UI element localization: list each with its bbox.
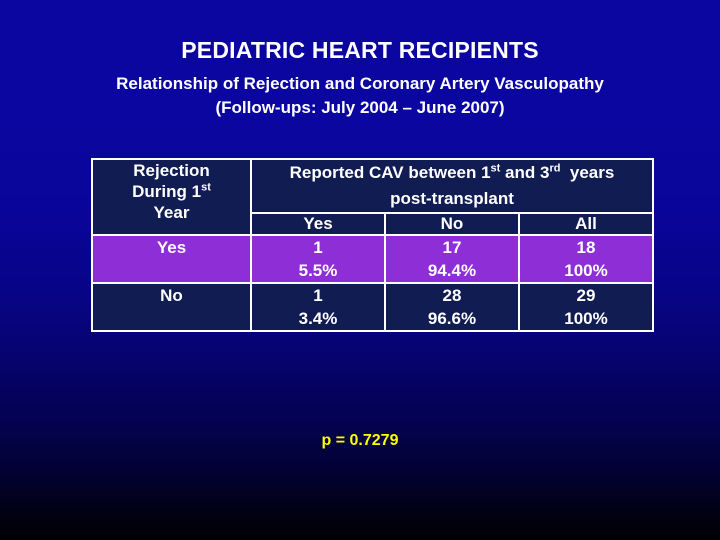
count-value: 29 <box>577 286 596 305</box>
row-variable-line3: Year <box>154 203 190 222</box>
row-variable-header: Rejection During 1st Year <box>92 159 251 235</box>
cell-no-all: 29 100% <box>519 283 653 331</box>
title-block: PEDIATRIC HEART RECIPIENTS Relationship … <box>0 36 720 120</box>
cav-rejection-table: Rejection During 1st Year Reported CAV b… <box>91 158 654 332</box>
subtitle-line-1: Relationship of Rejection and Coronary A… <box>0 72 720 96</box>
col-group-sup-2: rd <box>549 162 560 174</box>
col-group-line2: post-transplant <box>390 189 514 208</box>
table-header-row-group: Rejection During 1st Year Reported CAV b… <box>92 159 653 213</box>
count-value: 17 <box>443 238 462 257</box>
cell-yes-all: 18 100% <box>519 235 653 283</box>
row-variable-line2: During 1 <box>132 182 201 201</box>
row-label-no: No <box>92 283 251 331</box>
col-group-sup-1: st <box>491 162 501 174</box>
count-value: 1 <box>313 238 322 257</box>
percent-value: 94.4% <box>428 261 476 280</box>
count-value: 18 <box>577 238 596 257</box>
count-value: 28 <box>443 286 462 305</box>
col-group-suffix: years <box>560 163 614 182</box>
slide-footer: ISHLT 2008 J Heart Lung Transplant 2008;… <box>0 460 720 540</box>
cell-no-yes: 1 3.4% <box>251 283 385 331</box>
table-row: Yes 1 5.5% 17 94.4% 18 100% <box>92 235 653 283</box>
percent-value: 100% <box>564 261 607 280</box>
row-variable-sup: st <box>201 181 211 193</box>
percent-value: 5.5% <box>299 261 338 280</box>
col-group-prefix: Reported CAV between 1 <box>290 163 491 182</box>
cell-yes-yes: 1 5.5% <box>251 235 385 283</box>
column-header-all: All <box>519 213 653 235</box>
percent-value: 100% <box>564 309 607 328</box>
row-variable-line1: Rejection <box>133 161 210 180</box>
column-header-no: No <box>385 213 519 235</box>
column-group-header: Reported CAV between 1st and 3rd years p… <box>251 159 653 213</box>
table-row: No 1 3.4% 28 96.6% 29 100% <box>92 283 653 331</box>
percent-value: 96.6% <box>428 309 476 328</box>
cell-no-no: 28 96.6% <box>385 283 519 331</box>
percent-value: 3.4% <box>299 309 338 328</box>
row-label-yes: Yes <box>92 235 251 283</box>
slide-canvas: PEDIATRIC HEART RECIPIENTS Relationship … <box>0 0 720 540</box>
p-value-annotation: p = 0.7279 <box>0 432 720 450</box>
cell-yes-no: 17 94.4% <box>385 235 519 283</box>
col-group-mid: and 3 <box>500 163 549 182</box>
count-value: 1 <box>313 286 322 305</box>
page-title: PEDIATRIC HEART RECIPIENTS <box>0 36 720 64</box>
subtitle-line-2: (Follow-ups: July 2004 – June 2007) <box>0 96 720 120</box>
column-header-yes: Yes <box>251 213 385 235</box>
